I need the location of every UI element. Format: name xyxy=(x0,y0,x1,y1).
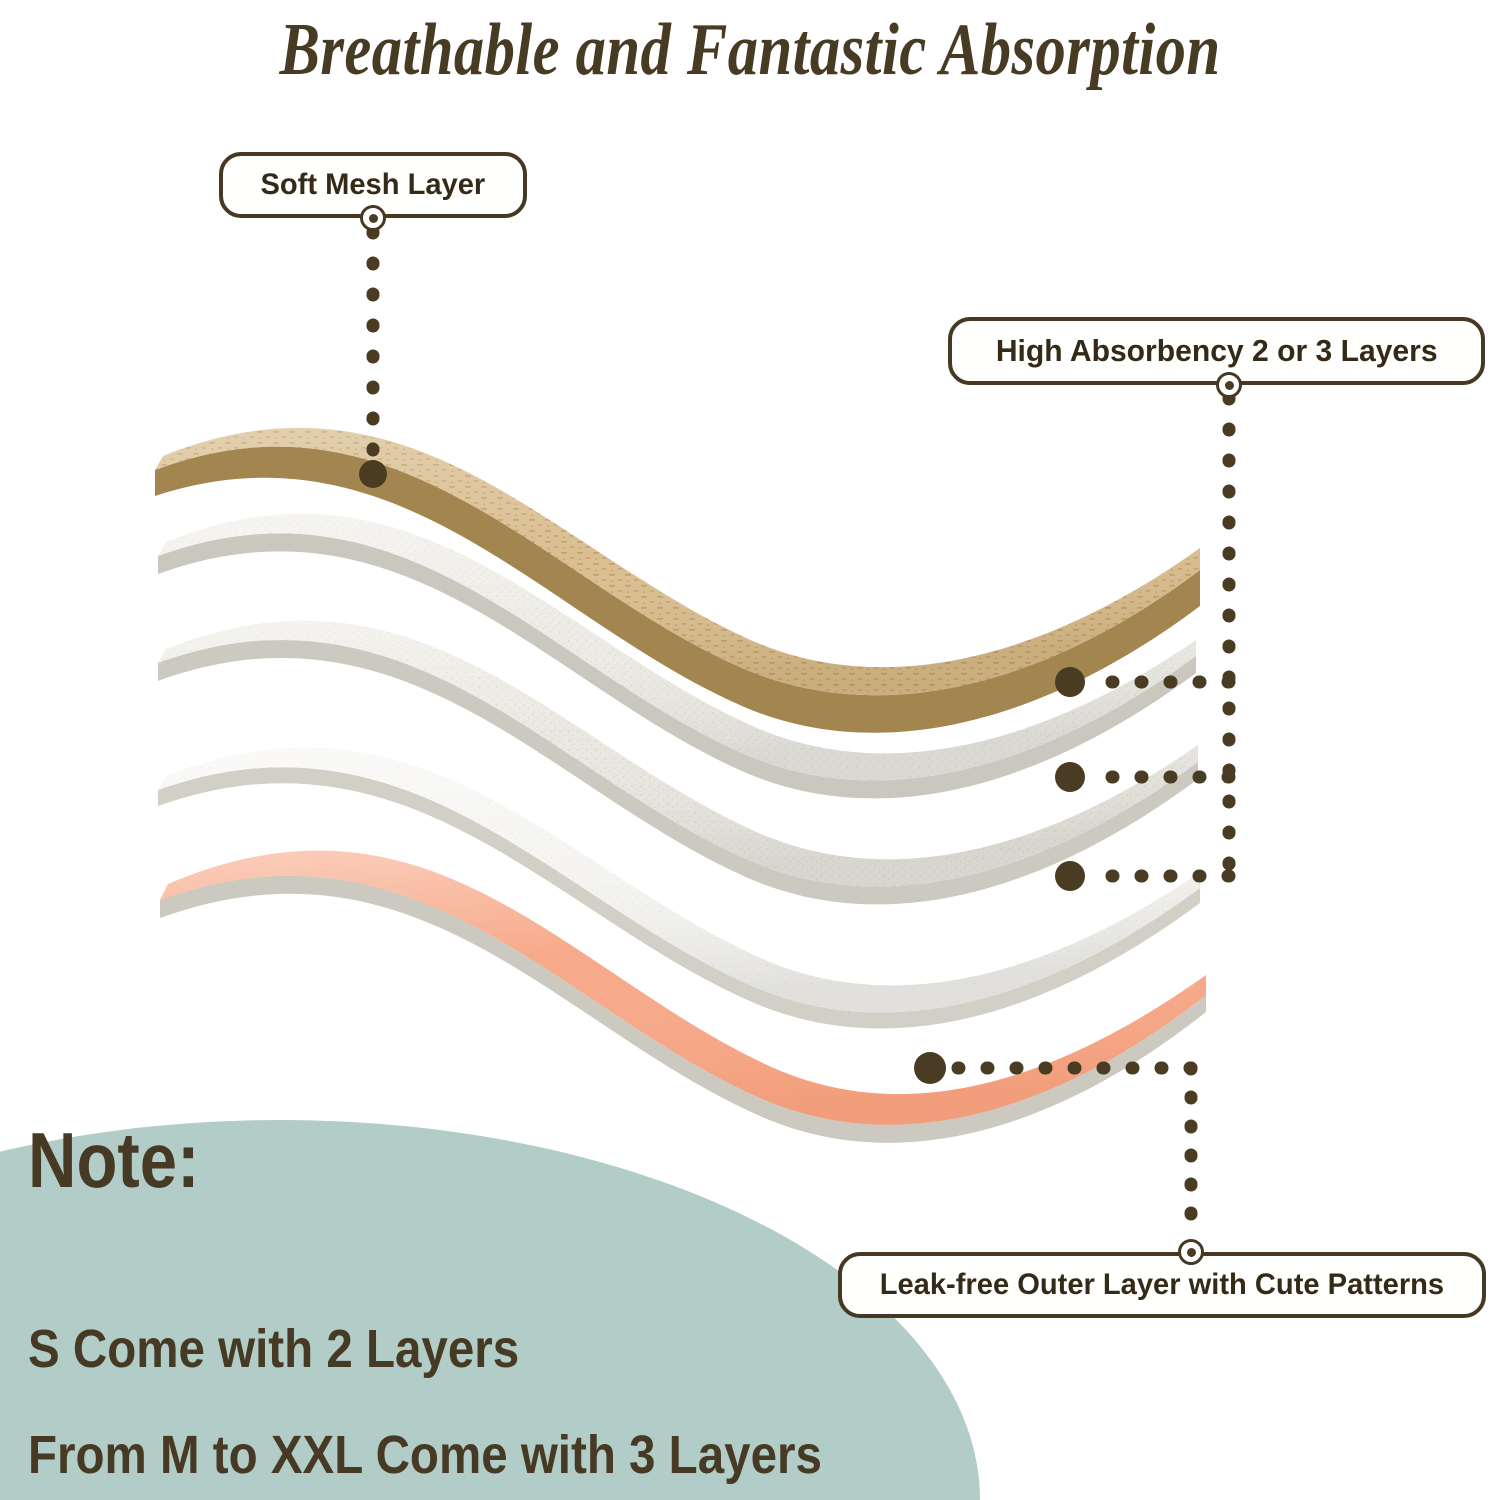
note-line-small-sizes: S Come with 2 Layers xyxy=(28,1318,519,1380)
note-line-large-sizes: From M to XXL Come with 3 Layers xyxy=(28,1424,822,1486)
callout-anchor-soft-mesh-icon xyxy=(360,205,386,231)
outer-layer xyxy=(160,851,1206,1143)
callout-anchor-leak-free-icon xyxy=(1178,1239,1204,1265)
callout-soft-mesh-label: Soft Mesh Layer xyxy=(261,168,486,202)
callout-anchor-high-absorbency-icon xyxy=(1216,372,1242,398)
callout-high-absorbency-label: High Absorbency 2 or 3 Layers xyxy=(996,333,1438,369)
infographic-canvas: Breathable and Fantastic Absorption xyxy=(0,0,1500,1500)
note-heading: Note: xyxy=(28,1115,199,1206)
callout-leak-free-outer-layer[interactable]: Leak-free Outer Layer with Cute Patterns xyxy=(838,1252,1486,1318)
callout-high-absorbency[interactable]: High Absorbency 2 or 3 Layers xyxy=(948,317,1485,385)
callout-leak-free-label: Leak-free Outer Layer with Cute Patterns xyxy=(880,1268,1444,1302)
